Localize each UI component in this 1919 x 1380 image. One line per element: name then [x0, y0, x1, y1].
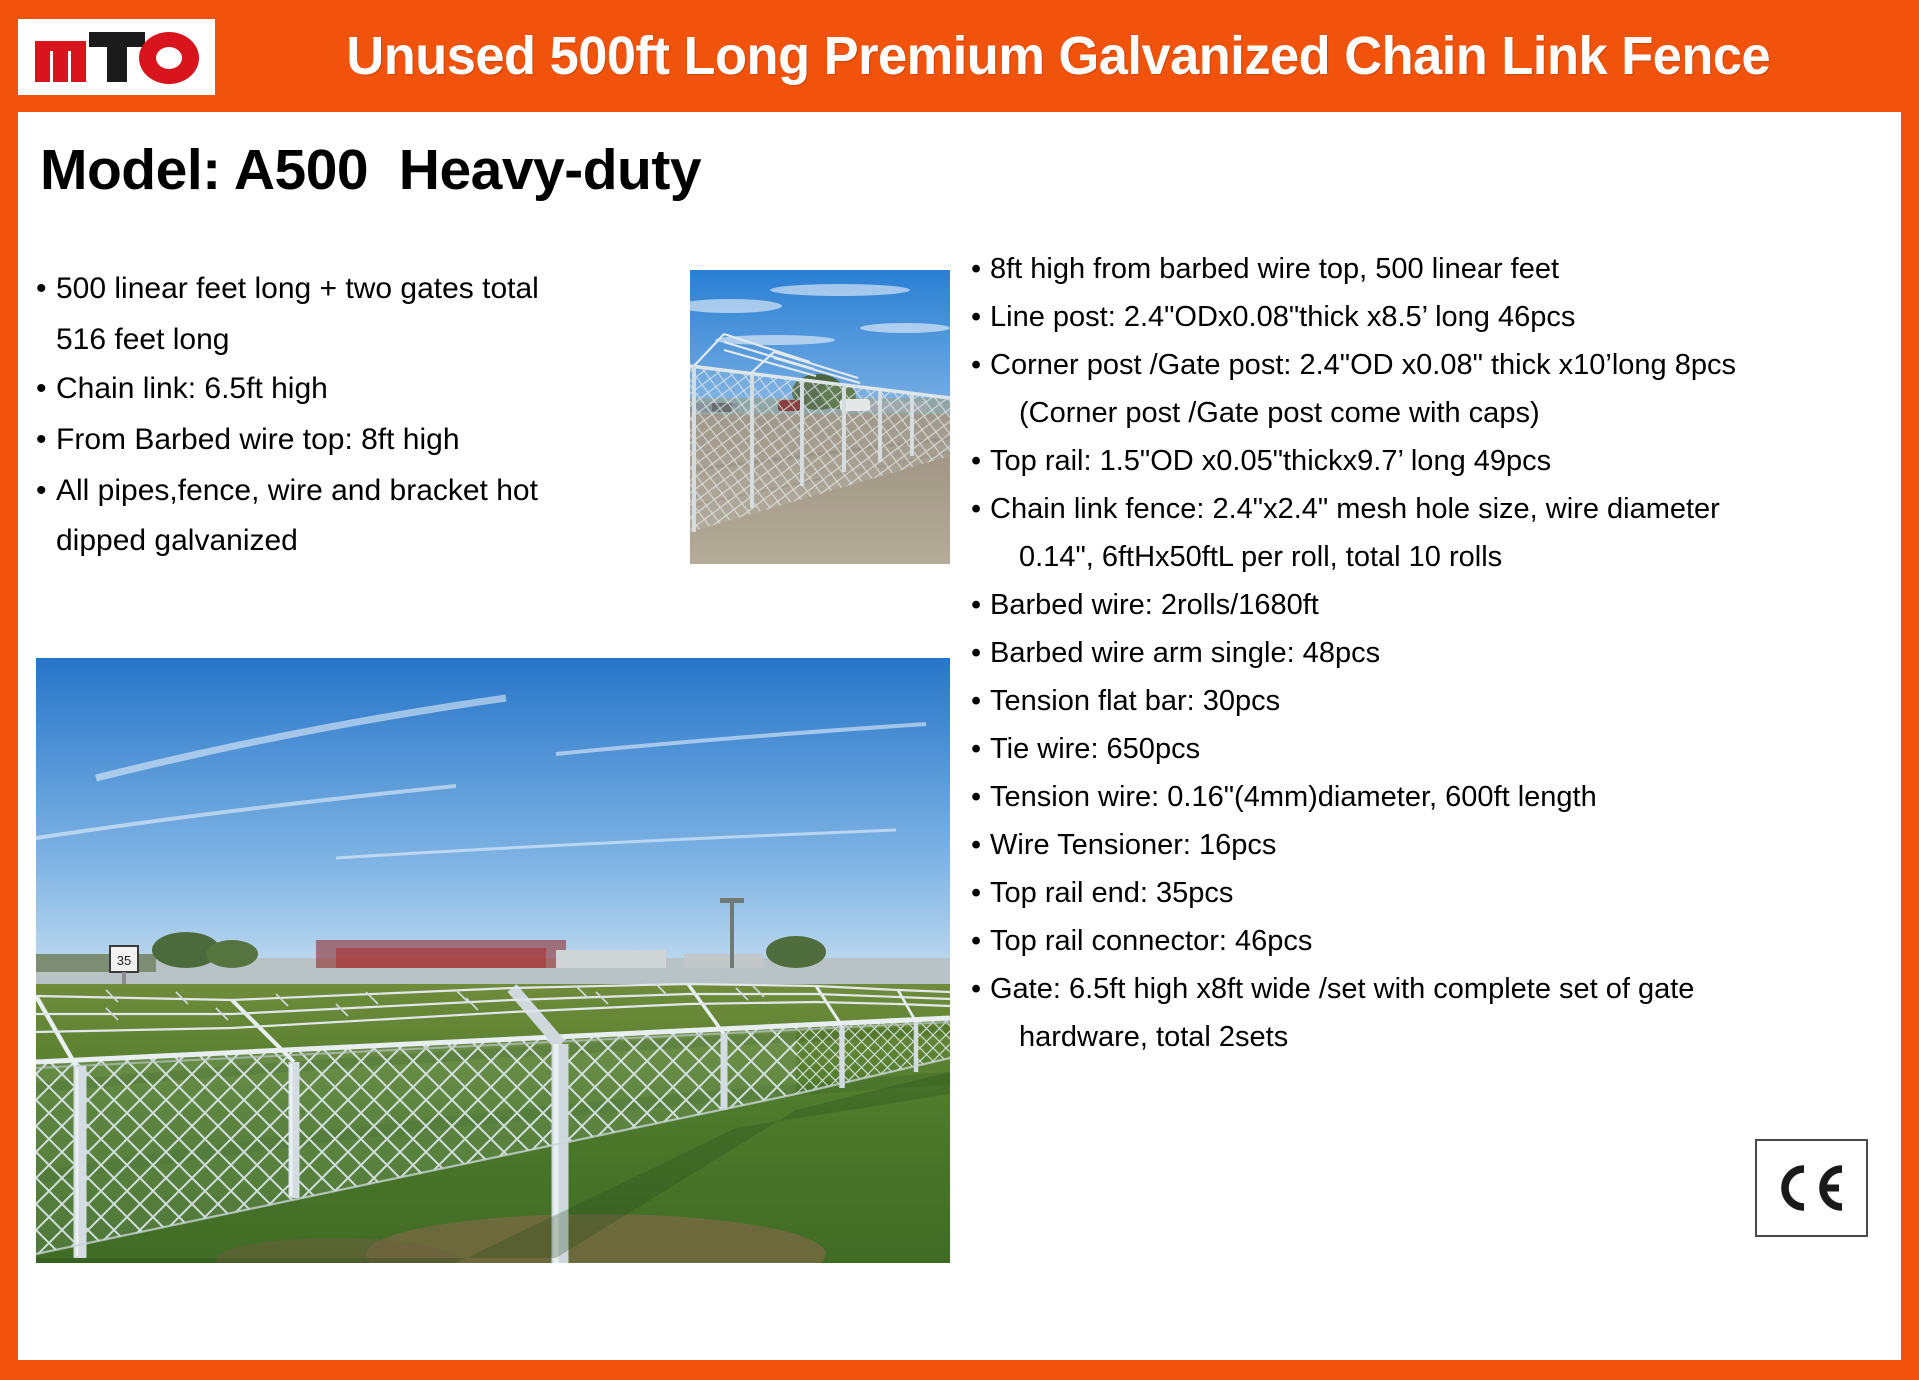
left-bullet-list: • 500 linear feet long + two gates total… [36, 265, 701, 566]
bullet-icon: • [971, 927, 990, 956]
right-item-7-text: Tension flat bar: 30pcs [990, 687, 1280, 716]
bullet-icon: • [971, 831, 990, 860]
bullet-icon: • [971, 639, 990, 668]
bullet-icon: • [971, 447, 990, 476]
list-item: • Corner post /Gate post: 2.4"OD x0.08" … [971, 351, 1876, 380]
right-item-11-text: Top rail end: 35pcs [990, 879, 1233, 908]
right-item-0-text: 8ft high from barbed wire top, 500 linea… [990, 255, 1559, 284]
right-item-9-text: Tension wire: 0.16"(4mm)diameter, 600ft … [990, 783, 1597, 812]
list-item: • Chain link: 6.5ft high [36, 365, 701, 414]
list-item: • Tension flat bar: 30pcs [971, 687, 1876, 716]
list-item: • Tie wire: 650pcs [971, 735, 1876, 764]
right-item-2-continuation: (Corner post /Gate post come with caps) [971, 399, 1876, 428]
bullet-icon: • [971, 303, 990, 332]
bullet-icon: • [971, 591, 990, 620]
fence-photo-small-image [690, 270, 950, 564]
fence-photo-large: 35 [36, 658, 950, 1263]
bullet-icon: • [971, 879, 990, 908]
left-spec-list: • 500 linear feet long + two gates total… [36, 265, 701, 566]
left-item-2-text: From Barbed wire top: 8ft high [56, 416, 701, 465]
right-spec-list: • 8ft high from barbed wire top, 500 lin… [971, 255, 1876, 1071]
header-title: Unused 500ft Long Premium Galvanized Cha… [241, 25, 1894, 87]
bullet-icon: • [971, 495, 990, 524]
fence-photo-small [690, 270, 950, 564]
right-item-4-continuation: 0.14", 6ftHx50ftL per roll, total 10 rol… [971, 543, 1876, 572]
list-item: • Top rail: 1.5"OD x0.05"thickx9.7’ long… [971, 447, 1876, 476]
product-spec-sheet: Unused 500ft Long Premium Galvanized Cha… [0, 0, 1919, 1380]
list-item: • Top rail connector: 46pcs [971, 927, 1876, 956]
content-card: Model: A500 Heavy-duty • 500 linear feet… [18, 112, 1901, 1360]
list-item: • From Barbed wire top: 8ft high [36, 416, 701, 465]
right-item-6-text: Barbed wire arm single: 48pcs [990, 639, 1380, 668]
bullet-icon: • [36, 416, 56, 465]
list-item: • Line post: 2.4"ODx0.08"thick x8.5’ lon… [971, 303, 1876, 332]
bullet-icon: • [36, 365, 56, 414]
model-heading: Model: A500 Heavy-duty [40, 137, 701, 203]
list-item: • Gate: 6.5ft high x8ft wide /set with c… [971, 975, 1876, 1004]
list-item: • 500 linear feet long + two gates total… [36, 265, 701, 365]
bullet-icon: • [971, 735, 990, 764]
bullet-icon: • [971, 975, 990, 1004]
right-item-10-text: Wire Tensioner: 16pcs [990, 831, 1276, 860]
right-item-8-text: Tie wire: 650pcs [990, 735, 1200, 764]
right-item-12-text: Top rail connector: 46pcs [990, 927, 1312, 956]
bullet-icon: • [971, 351, 990, 380]
list-item: • Chain link fence: 2.4"x2.4" mesh hole … [971, 495, 1876, 524]
list-item: • Top rail end: 35pcs [971, 879, 1876, 908]
bullet-icon: • [971, 255, 990, 284]
right-item-1-text: Line post: 2.4"ODx0.08"thick x8.5’ long … [990, 303, 1575, 332]
right-item-4-text: Chain link fence: 2.4"x2.4" mesh hole si… [990, 495, 1720, 524]
bullet-icon: • [36, 467, 56, 516]
header-banner: Unused 500ft Long Premium Galvanized Cha… [0, 0, 1919, 112]
right-item-13-continuation: hardware, total 2sets [971, 1023, 1876, 1052]
right-item-2-text: Corner post /Gate post: 2.4"OD x0.08" th… [990, 351, 1736, 380]
mto-logo-icon [29, 27, 205, 87]
right-item-3-text: Top rail: 1.5"OD x0.05"thickx9.7’ long 4… [990, 447, 1551, 476]
list-item: • 8ft high from barbed wire top, 500 lin… [971, 255, 1876, 284]
mto-logo [18, 19, 215, 95]
bullet-icon: • [971, 783, 990, 812]
svg-text:35: 35 [117, 953, 131, 968]
bullet-icon: • [971, 687, 990, 716]
left-item-0-continuation: 516 feet long [36, 316, 701, 365]
ce-mark-icon [1772, 1161, 1852, 1215]
left-item-1-text: Chain link: 6.5ft high [56, 365, 701, 414]
list-item: • Barbed wire arm single: 48pcs [971, 639, 1876, 668]
bullet-icon: • [36, 265, 56, 314]
list-item: • Barbed wire: 2rolls/1680ft [971, 591, 1876, 620]
right-item-13-text: Gate: 6.5ft high x8ft wide /set with com… [990, 975, 1694, 1004]
fence-photo-large-image: 35 [36, 658, 950, 1263]
left-item-3-continuation: dipped galvanized [36, 517, 701, 566]
ce-mark [1755, 1139, 1868, 1237]
list-item: • All pipes,fence, wire and bracket hot … [36, 467, 701, 567]
list-item: • Wire Tensioner: 16pcs [971, 831, 1876, 860]
left-item-3-text: All pipes,fence, wire and bracket hot [56, 467, 701, 516]
left-item-0-text: 500 linear feet long + two gates total [56, 265, 701, 314]
right-item-5-text: Barbed wire: 2rolls/1680ft [990, 591, 1319, 620]
list-item: • Tension wire: 0.16"(4mm)diameter, 600f… [971, 783, 1876, 812]
